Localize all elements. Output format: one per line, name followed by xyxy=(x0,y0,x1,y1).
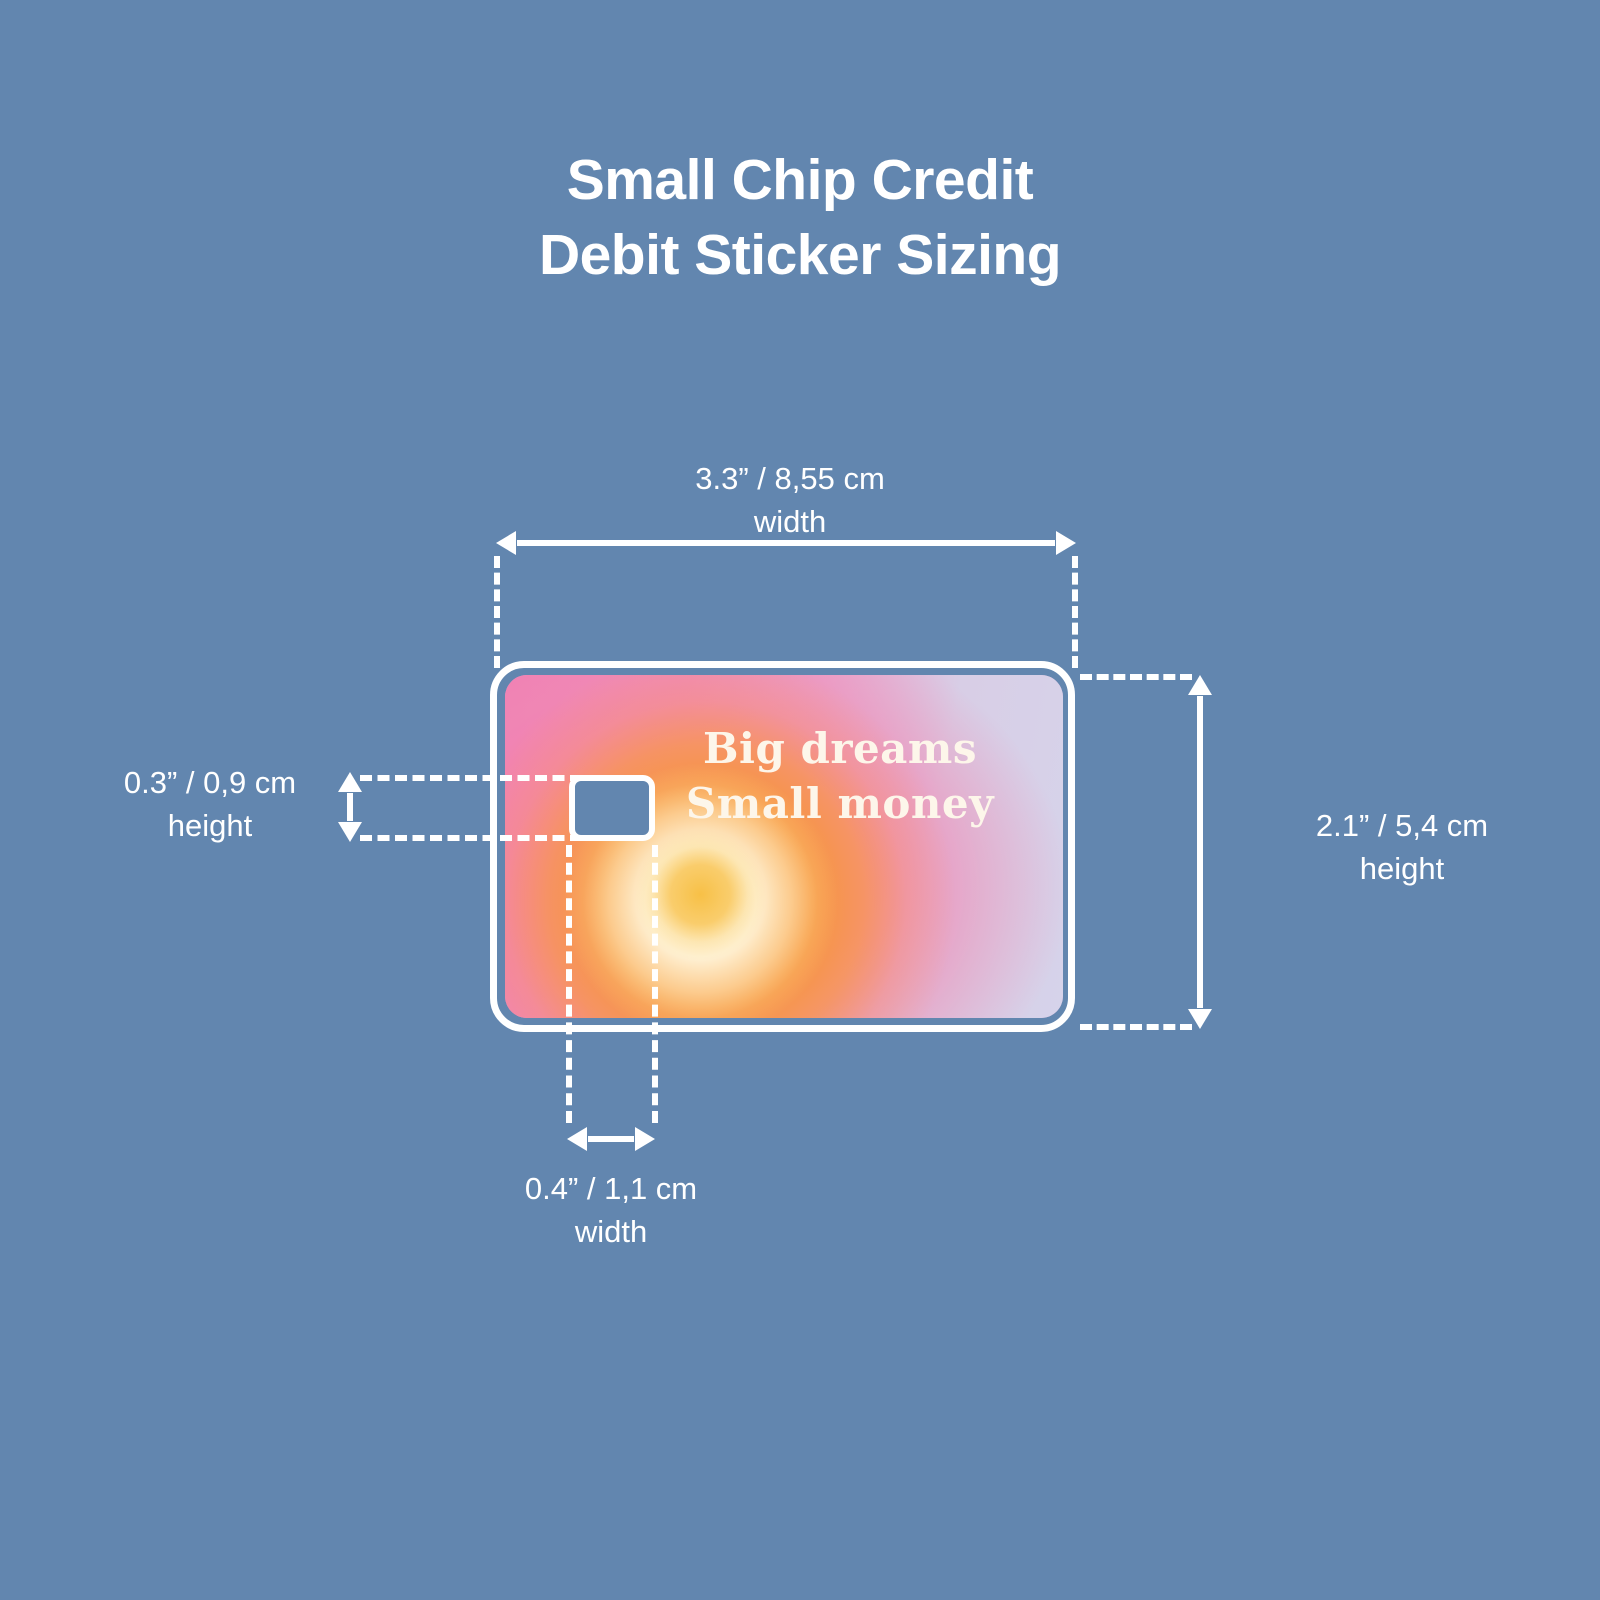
chip-height-extension-top xyxy=(360,775,582,781)
chip-width-arrow xyxy=(588,1136,634,1142)
sticker-card: Big dreams Small money xyxy=(505,675,1063,1018)
card-height-arrow xyxy=(1197,696,1203,1008)
sticker-chip-cutout xyxy=(569,775,655,841)
card-height-value: 2.1” / 5,4 cm xyxy=(1222,805,1582,848)
card-width-arrow xyxy=(517,540,1055,546)
chip-width-extension-left xyxy=(566,845,572,1123)
card-height-extension-top xyxy=(1080,674,1192,680)
card-width-unit: width xyxy=(545,501,1035,544)
sticker-slogan-line-2: Small money xyxy=(617,776,1063,831)
chip-height-unit: height xyxy=(95,805,325,848)
card-width-label: 3.3” / 8,55 cm width xyxy=(545,458,1035,544)
chip-height-arrow xyxy=(347,793,353,821)
chip-width-unit: width xyxy=(496,1211,726,1254)
chip-height-extension-bottom xyxy=(360,835,582,841)
page-title: Small Chip Credit Debit Sticker Sizing xyxy=(0,143,1600,293)
sticker-slogan-line-1: Big dreams xyxy=(617,721,1063,776)
chip-height-value: 0.3” / 0,9 cm xyxy=(95,762,325,805)
page-title-line-2: Debit Sticker Sizing xyxy=(0,218,1600,293)
card-width-extension-right xyxy=(1072,556,1078,668)
card-height-label: 2.1” / 5,4 cm height xyxy=(1222,805,1582,891)
card-height-extension-bottom xyxy=(1080,1024,1192,1030)
card-height-unit: height xyxy=(1222,848,1582,891)
chip-width-value: 0.4” / 1,1 cm xyxy=(496,1168,726,1211)
chip-width-extension-right xyxy=(652,845,658,1123)
sticker-sizing-diagram: Small Chip Credit Debit Sticker Sizing 3… xyxy=(0,0,1600,1600)
card-width-extension-left xyxy=(494,556,500,668)
page-title-line-1: Small Chip Credit xyxy=(0,143,1600,218)
chip-width-label: 0.4” / 1,1 cm width xyxy=(496,1168,726,1254)
card-width-value: 3.3” / 8,55 cm xyxy=(545,458,1035,501)
chip-height-label: 0.3” / 0,9 cm height xyxy=(95,762,325,848)
